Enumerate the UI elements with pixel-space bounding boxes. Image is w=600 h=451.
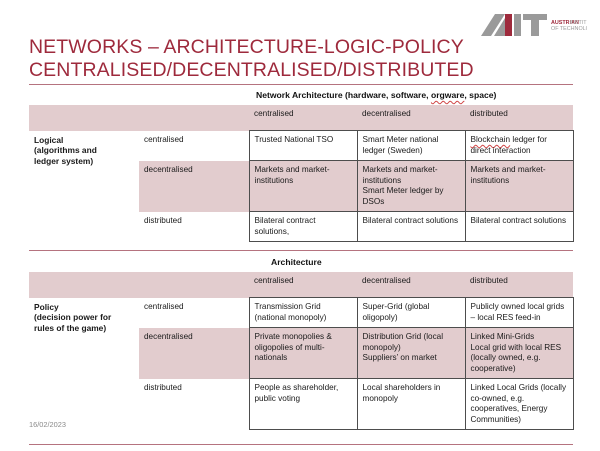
table-2-cell-r0c0: Transmission Grid (national monopoly) bbox=[249, 298, 357, 328]
table-1-header-blank-1 bbox=[29, 105, 139, 131]
table-row: Logical (algorithms and ledger system) c… bbox=[29, 131, 573, 161]
policy-architecture-matrix: centralised decentralised distributed Po… bbox=[29, 272, 574, 430]
table-1-row-axis-distributed: distributed bbox=[139, 212, 249, 242]
table-2-cell-r1c0: Private monopolies & oligopolies of mult… bbox=[249, 328, 357, 379]
table-row: Policy (decision power for rules of the … bbox=[29, 298, 573, 328]
table-1-cell-r2c2: Bilateral contract solutions bbox=[465, 212, 573, 242]
table-1-row-axis-centralised: centralised bbox=[139, 131, 249, 161]
table-2-cell-r2c0: People as shareholder, public voting bbox=[249, 379, 357, 430]
table-2-cell-r0c1: Super-Grid (global oligopoly) bbox=[357, 298, 465, 328]
table-2-cell-r1c2: Linked Mini-GridsLocal grid with local R… bbox=[465, 328, 573, 379]
table-2-col-header-centralised: centralised bbox=[249, 272, 357, 298]
table-2-cell-r1c1: Distribution Grid (local monopoly)Suppli… bbox=[357, 328, 465, 379]
logo-text-line2: OF TECHNOLOGY bbox=[551, 26, 587, 32]
table-2-row-group-label-line-3: rules of the game) bbox=[34, 323, 106, 333]
table-1-header-blank-2 bbox=[139, 105, 249, 131]
title-divider-rule bbox=[29, 84, 573, 85]
table-2-row-group-label-line-2: (decision power for bbox=[34, 312, 111, 322]
table-1-row-group-label-line-2: (algorithms and bbox=[34, 145, 97, 155]
table-1-col-header-centralised: centralised bbox=[249, 105, 357, 131]
table-1-caption-suffix: , space) bbox=[464, 90, 496, 100]
table-2-cell-r2c2: Linked Local Grids (locally co-owned, e.… bbox=[465, 379, 573, 430]
table-1-caption: Network Architecture (hardware, software… bbox=[256, 90, 496, 100]
table-2-caption: Architecture bbox=[271, 257, 322, 267]
table-2-row-axis-decentralised: decentralised bbox=[139, 328, 249, 379]
table-1-row-axis-decentralised: decentralised bbox=[139, 161, 249, 212]
table-1-caption-misspelled-word: orgware bbox=[431, 90, 464, 100]
slide-title-line-2: CENTRALISED/DECENTRALISED/DISTRIBUTED bbox=[29, 59, 569, 82]
table-1-row-group-label-line-3: ledger system) bbox=[34, 156, 93, 166]
table-1-cell-r1c1: Markets and market-institutionsSmart Met… bbox=[357, 161, 465, 212]
table-1-col-header-distributed: distributed bbox=[465, 105, 573, 131]
table-1-caption-prefix: Network Architecture (hardware, software… bbox=[256, 90, 431, 100]
table-1-cell-r2c1: Bilateral contract solutions bbox=[357, 212, 465, 242]
table-1-cell-r0c2: Blockchain ledger for direct interaction bbox=[465, 131, 573, 161]
table-2-col-header-decentralised: decentralised bbox=[357, 272, 465, 298]
slide-date: 16/02/2023 bbox=[29, 420, 66, 429]
table-1-row-group-label: Logical (algorithms and ledger system) bbox=[29, 131, 139, 242]
table-2-row-axis-distributed: distributed bbox=[139, 379, 249, 430]
table-1-cell-r0c0: Trusted National TSO bbox=[249, 131, 357, 161]
table-2-header-blank-1 bbox=[29, 272, 139, 298]
table-2-row-group-label-line-1: Policy bbox=[34, 302, 59, 312]
footer-divider-rule bbox=[29, 444, 573, 445]
table-1-cell-r1c2: Markets and market-institutions bbox=[465, 161, 573, 212]
table-1-header-row: centralised decentralised distributed bbox=[29, 105, 573, 131]
slide-title: NETWORKS – ARCHITECTURE-LOGIC-POLICY CEN… bbox=[29, 36, 569, 82]
table-1-cell-r0c1: Smart Meter national ledger (Sweden) bbox=[357, 131, 465, 161]
table-1-cell-r2c0: Bilateral contract solutions, bbox=[249, 212, 357, 242]
table-2-row-axis-centralised: centralised bbox=[139, 298, 249, 328]
slide-title-line-1: NETWORKS – ARCHITECTURE-LOGIC-POLICY bbox=[29, 36, 569, 59]
table-1-cell-r1c0: Markets and market-institutions bbox=[249, 161, 357, 212]
table-2-header-blank-2 bbox=[139, 272, 249, 298]
table-1-col-header-decentralised: decentralised bbox=[357, 105, 465, 131]
section-divider-rule bbox=[29, 250, 573, 251]
table-2-row-group-label: Policy (decision power for rules of the … bbox=[29, 298, 139, 430]
table-2-cell-r0c2: Publicly owned local grids – local RES f… bbox=[465, 298, 573, 328]
table-2-col-header-distributed: distributed bbox=[465, 272, 573, 298]
table-1-cell-r0c2-misspelled-word: Blockchain bbox=[471, 135, 511, 144]
table-1-row-group-label-line-1: Logical bbox=[34, 135, 63, 145]
table-2-cell-r2c1: Local shareholders in monopoly bbox=[357, 379, 465, 430]
table-2-header-row: centralised decentralised distributed bbox=[29, 272, 573, 298]
network-architecture-matrix: centralised decentralised distributed Lo… bbox=[29, 105, 574, 242]
